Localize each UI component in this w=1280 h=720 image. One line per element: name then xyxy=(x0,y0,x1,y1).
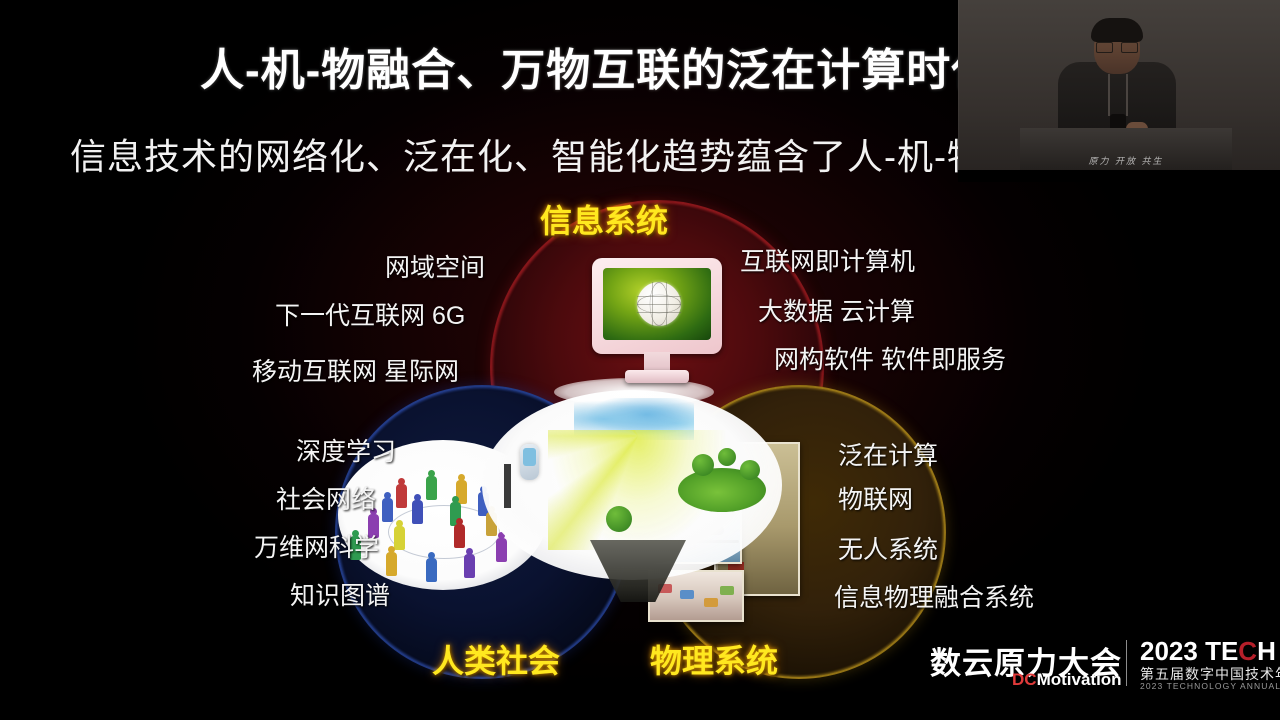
logo-divider xyxy=(1126,640,1127,686)
person-figure xyxy=(426,558,437,582)
logo-year-mark: C xyxy=(1238,636,1257,666)
monitor-stand-neck xyxy=(644,352,670,372)
speaker-hair xyxy=(1091,18,1143,42)
keyword-bottom-right-1: 泛在计算 xyxy=(838,436,938,472)
keyword-top-left-1: 网域空间 xyxy=(385,248,485,284)
keyword-bottom-left-2: 社会网络 xyxy=(276,480,376,516)
logo-brand-en: DCMotivation xyxy=(1012,670,1122,690)
logo-brand-en-prefix: DC xyxy=(1012,670,1037,689)
tree-icon xyxy=(692,454,714,476)
keyword-top-right-1: 互联网即计算机 xyxy=(740,242,915,278)
venn-caption-human-society: 人类社会 xyxy=(432,636,560,682)
person-figure xyxy=(386,552,397,576)
video-letterbox-band xyxy=(958,170,1280,182)
keyword-bottom-right-4: 信息物理融合系统 xyxy=(834,578,1034,614)
lanyard xyxy=(1108,74,1110,116)
monitor-stand-base xyxy=(625,370,689,383)
venn-caption-physical-system: 物理系统 xyxy=(650,636,778,682)
globe-icon xyxy=(637,282,681,326)
keyword-top-right-2: 大数据 云计算 xyxy=(758,292,915,328)
podium-text: 原力 开放 共生 xyxy=(1020,154,1232,167)
speaker-video-overlay[interactable]: 原力 开放 共生 xyxy=(958,0,1280,182)
slide-canvas: 人-机-物融合、万物互联的泛在计算时代 信息技术的网络化、泛在化、智能化趋势蕴含… xyxy=(0,0,1280,720)
person-figure xyxy=(382,498,393,522)
logo-year-prefix: 2023 TE xyxy=(1140,636,1238,666)
podium: 原力 开放 共生 xyxy=(1020,128,1232,172)
person-figure xyxy=(394,526,405,550)
keyword-bottom-right-2: 物联网 xyxy=(838,480,913,516)
pole-graphic xyxy=(504,464,511,508)
computer-monitor-icon xyxy=(592,258,722,388)
logo-brand-en-suffix: Motivation xyxy=(1037,670,1122,689)
keyword-bottom-right-3: 无人系统 xyxy=(838,530,938,566)
person-figure xyxy=(464,554,475,578)
glasses-icon xyxy=(1096,40,1138,51)
conference-logo: 数云原力大会 DCMotivation 2023 TECH 第五届数字中国技术年… xyxy=(930,636,1260,694)
mobile-phone-icon xyxy=(520,444,539,480)
keyword-top-left-3: 移动互联网 星际网 xyxy=(252,352,459,388)
keyword-bottom-left-4: 知识图谱 xyxy=(290,576,390,612)
slide-title: 人-机-物融合、万物互联的泛在计算时代 xyxy=(200,34,996,98)
tree-icon xyxy=(718,448,736,466)
person-figure xyxy=(426,476,437,500)
person-figure xyxy=(412,500,423,524)
monitor-screen xyxy=(603,268,711,340)
person-figure xyxy=(454,524,465,548)
logo-year-suffix: H xyxy=(1257,636,1276,666)
person-figure xyxy=(396,484,407,508)
slide-subtitle: 信息技术的网络化、泛在化、智能化趋势蕴含了人-机-物 xyxy=(70,128,984,180)
logo-summit-en: 2023 TECHNOLOGY ANNUAL SUMMIT xyxy=(1140,681,1280,691)
keyword-top-left-2: 下一代互联网 6G xyxy=(275,296,465,332)
tree-icon xyxy=(606,506,632,532)
logo-year-tech: 2023 TECH xyxy=(1140,636,1276,667)
cloud-overlap-illustration xyxy=(482,390,782,580)
keyword-bottom-left-3: 万维网科学 xyxy=(254,528,379,564)
venn-caption-information-systems: 信息系统 xyxy=(540,196,668,242)
person-figure xyxy=(496,538,507,562)
monitor-body xyxy=(592,258,722,354)
keyword-bottom-left-1: 深度学习 xyxy=(296,432,396,468)
tree-icon xyxy=(740,460,760,480)
keyword-top-right-3: 网构软件 软件即服务 xyxy=(774,340,1006,376)
